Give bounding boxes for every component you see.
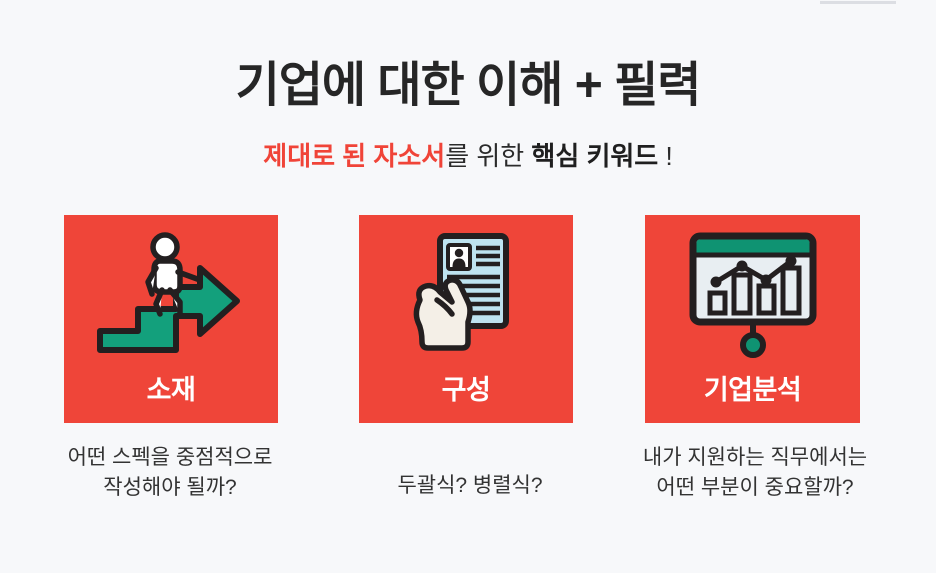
card-label-guseong: 구성 (359, 368, 573, 407)
caption-row: 어떤 스펙을 중점적으로 작성해야 될까? 두괄식? 병렬식? 내가 지원하는 … (0, 443, 936, 533)
top-edge-artifact (820, 1, 896, 4)
card-guseong[interactable]: 구성 (359, 215, 573, 423)
subtitle-exclamation: ! (658, 141, 672, 171)
caption-gieopbunseok: 내가 지원하는 직무에서는 어떤 부분이 중요할까? (595, 443, 915, 504)
caption-guseong: 두괄식? 병렬식? (330, 471, 610, 501)
hand-holding-resume-icon (359, 229, 573, 359)
infographic-page: 기업에 대한 이해 + 필력 제대로 된 자소서를 위한 핵심 키워드 ! (0, 0, 936, 573)
presentation-chart-board-icon (645, 229, 860, 359)
subtitle-connector: 를 위한 (445, 141, 531, 171)
person-climbing-stairs-arrow-icon (64, 229, 278, 359)
page-subtitle: 제대로 된 자소서를 위한 핵심 키워드 ! (0, 140, 936, 174)
card-gieopbunseok[interactable]: 기업분석 (645, 215, 860, 423)
caption-soje: 어떤 스펙을 중점적으로 작성해야 될까? (20, 443, 320, 504)
subtitle-keyword: 핵심 키워드 (531, 141, 658, 171)
page-title: 기업에 대한 이해 + 필력 (0, 58, 936, 113)
subtitle-highlight: 제대로 된 자소서 (263, 141, 445, 171)
card-label-gieopbunseok: 기업분석 (645, 368, 860, 407)
card-soje[interactable]: 소재 (64, 215, 278, 423)
card-row: 소재 (0, 215, 936, 425)
card-label-soje: 소재 (64, 368, 278, 407)
